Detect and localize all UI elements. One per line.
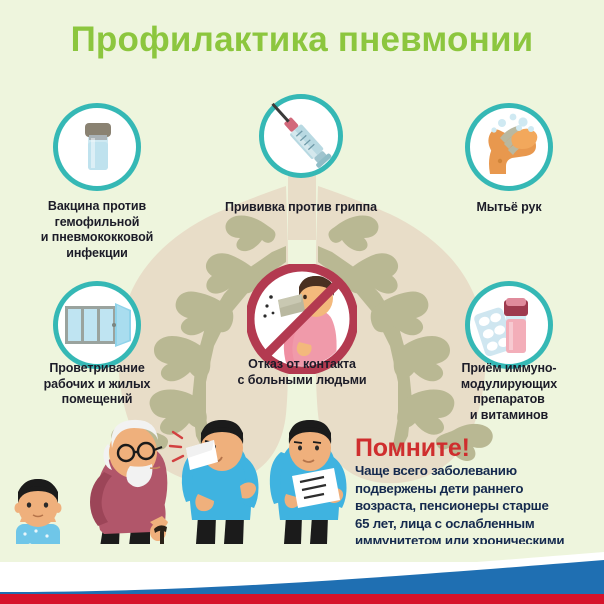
caption-line: Вакцина против (9, 199, 185, 215)
remember-line: 65 лет, лица с ослабленным (355, 515, 599, 533)
caption-line: Отказ от контакта (209, 357, 395, 373)
page-title: Профилактика пневмонии (0, 20, 604, 60)
caption-line: помещений (8, 392, 186, 408)
caption-line: Приём иммуно- (420, 361, 598, 377)
caption-line: модулирующих (420, 377, 598, 393)
caption-line: Проветривание (8, 361, 186, 377)
caption-vaccine: Вакцина против гемофильной и пневмококко… (9, 199, 185, 261)
caption-line: Мытьё рук (426, 200, 592, 216)
pneumonia-prevention-poster: Профилактика пневмонии Вакцина против ге… (0, 0, 604, 604)
caption-line: и витаминов (420, 408, 598, 424)
caption-no-contact: Отказ от контакта с больными людьми (209, 357, 395, 388)
caption-line: рабочих и жилых (8, 377, 186, 393)
caption-flu-shot: Прививка против гриппа (205, 200, 397, 216)
russian-flag-band (0, 544, 604, 604)
caption-line: и пневмококковой (9, 230, 185, 246)
remember-line: возраста, пенсионеры старше (355, 497, 599, 515)
caption-line: инфекции (9, 246, 185, 262)
caption-hand-washing: Мытьё рук (426, 200, 592, 216)
caption-immunomodulators: Приём иммуно- модулирующих препаратов и … (420, 361, 598, 423)
remember-line: Чаще всего заболеванию (355, 462, 599, 480)
caption-line: с больными людьми (209, 373, 395, 389)
caption-ventilation: Проветривание рабочих и жилых помещений (8, 361, 186, 408)
remember-heading: Помните! (355, 434, 470, 463)
caption-line: препаратов (420, 392, 598, 408)
caption-line: Прививка против гриппа (205, 200, 397, 216)
caption-line: гемофильной (9, 215, 185, 231)
remember-line: подвержены дети раннего (355, 480, 599, 498)
